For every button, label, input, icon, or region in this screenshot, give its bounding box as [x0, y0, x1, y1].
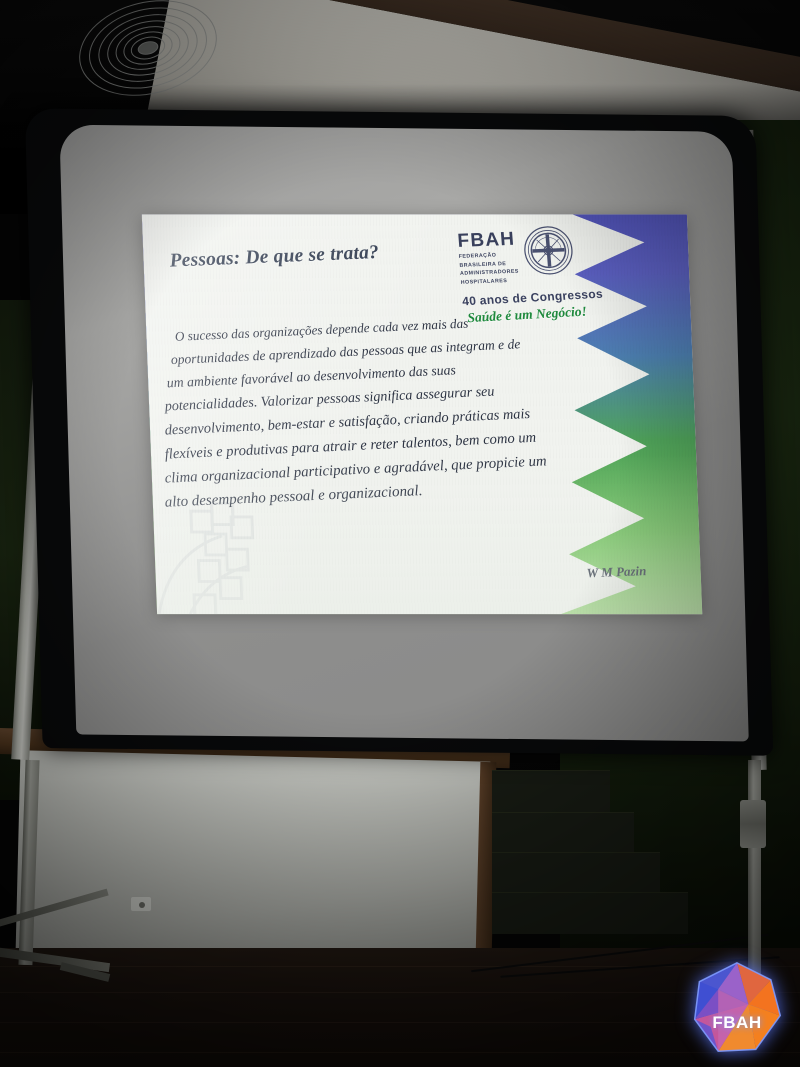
slide-body-text: O sucesso das organizações depende cada …: [156, 307, 670, 511]
stairs: [492, 770, 692, 965]
fbah-seal-icon: [521, 224, 575, 276]
photo-scene: Pessoas: De que se trata? FBAH FEDERAÇÃO…: [0, 0, 800, 1067]
floor: [0, 948, 800, 1067]
presentation-slide: Pessoas: De que se trata? FBAH FEDERAÇÃO…: [142, 214, 703, 614]
slide-attribution: W M Pazin: [586, 563, 647, 581]
screen-surface: Pessoas: De que se trata? FBAH FEDERAÇÃO…: [59, 125, 748, 742]
projection-screen: Pessoas: De que se trata? FBAH FEDERAÇÃO…: [25, 108, 773, 755]
tripod-clamp: [740, 800, 766, 848]
fbah-line-4: HOSPITALARES: [461, 277, 520, 288]
power-outlet-icon: [130, 896, 152, 912]
fbah-watermark: FBAH: [690, 961, 784, 1053]
stage-panel: [16, 750, 491, 961]
tripod-post-right: [748, 760, 761, 990]
fbah-acronym: FBAH: [457, 230, 517, 251]
watermark-label: FBAH: [690, 1013, 784, 1033]
